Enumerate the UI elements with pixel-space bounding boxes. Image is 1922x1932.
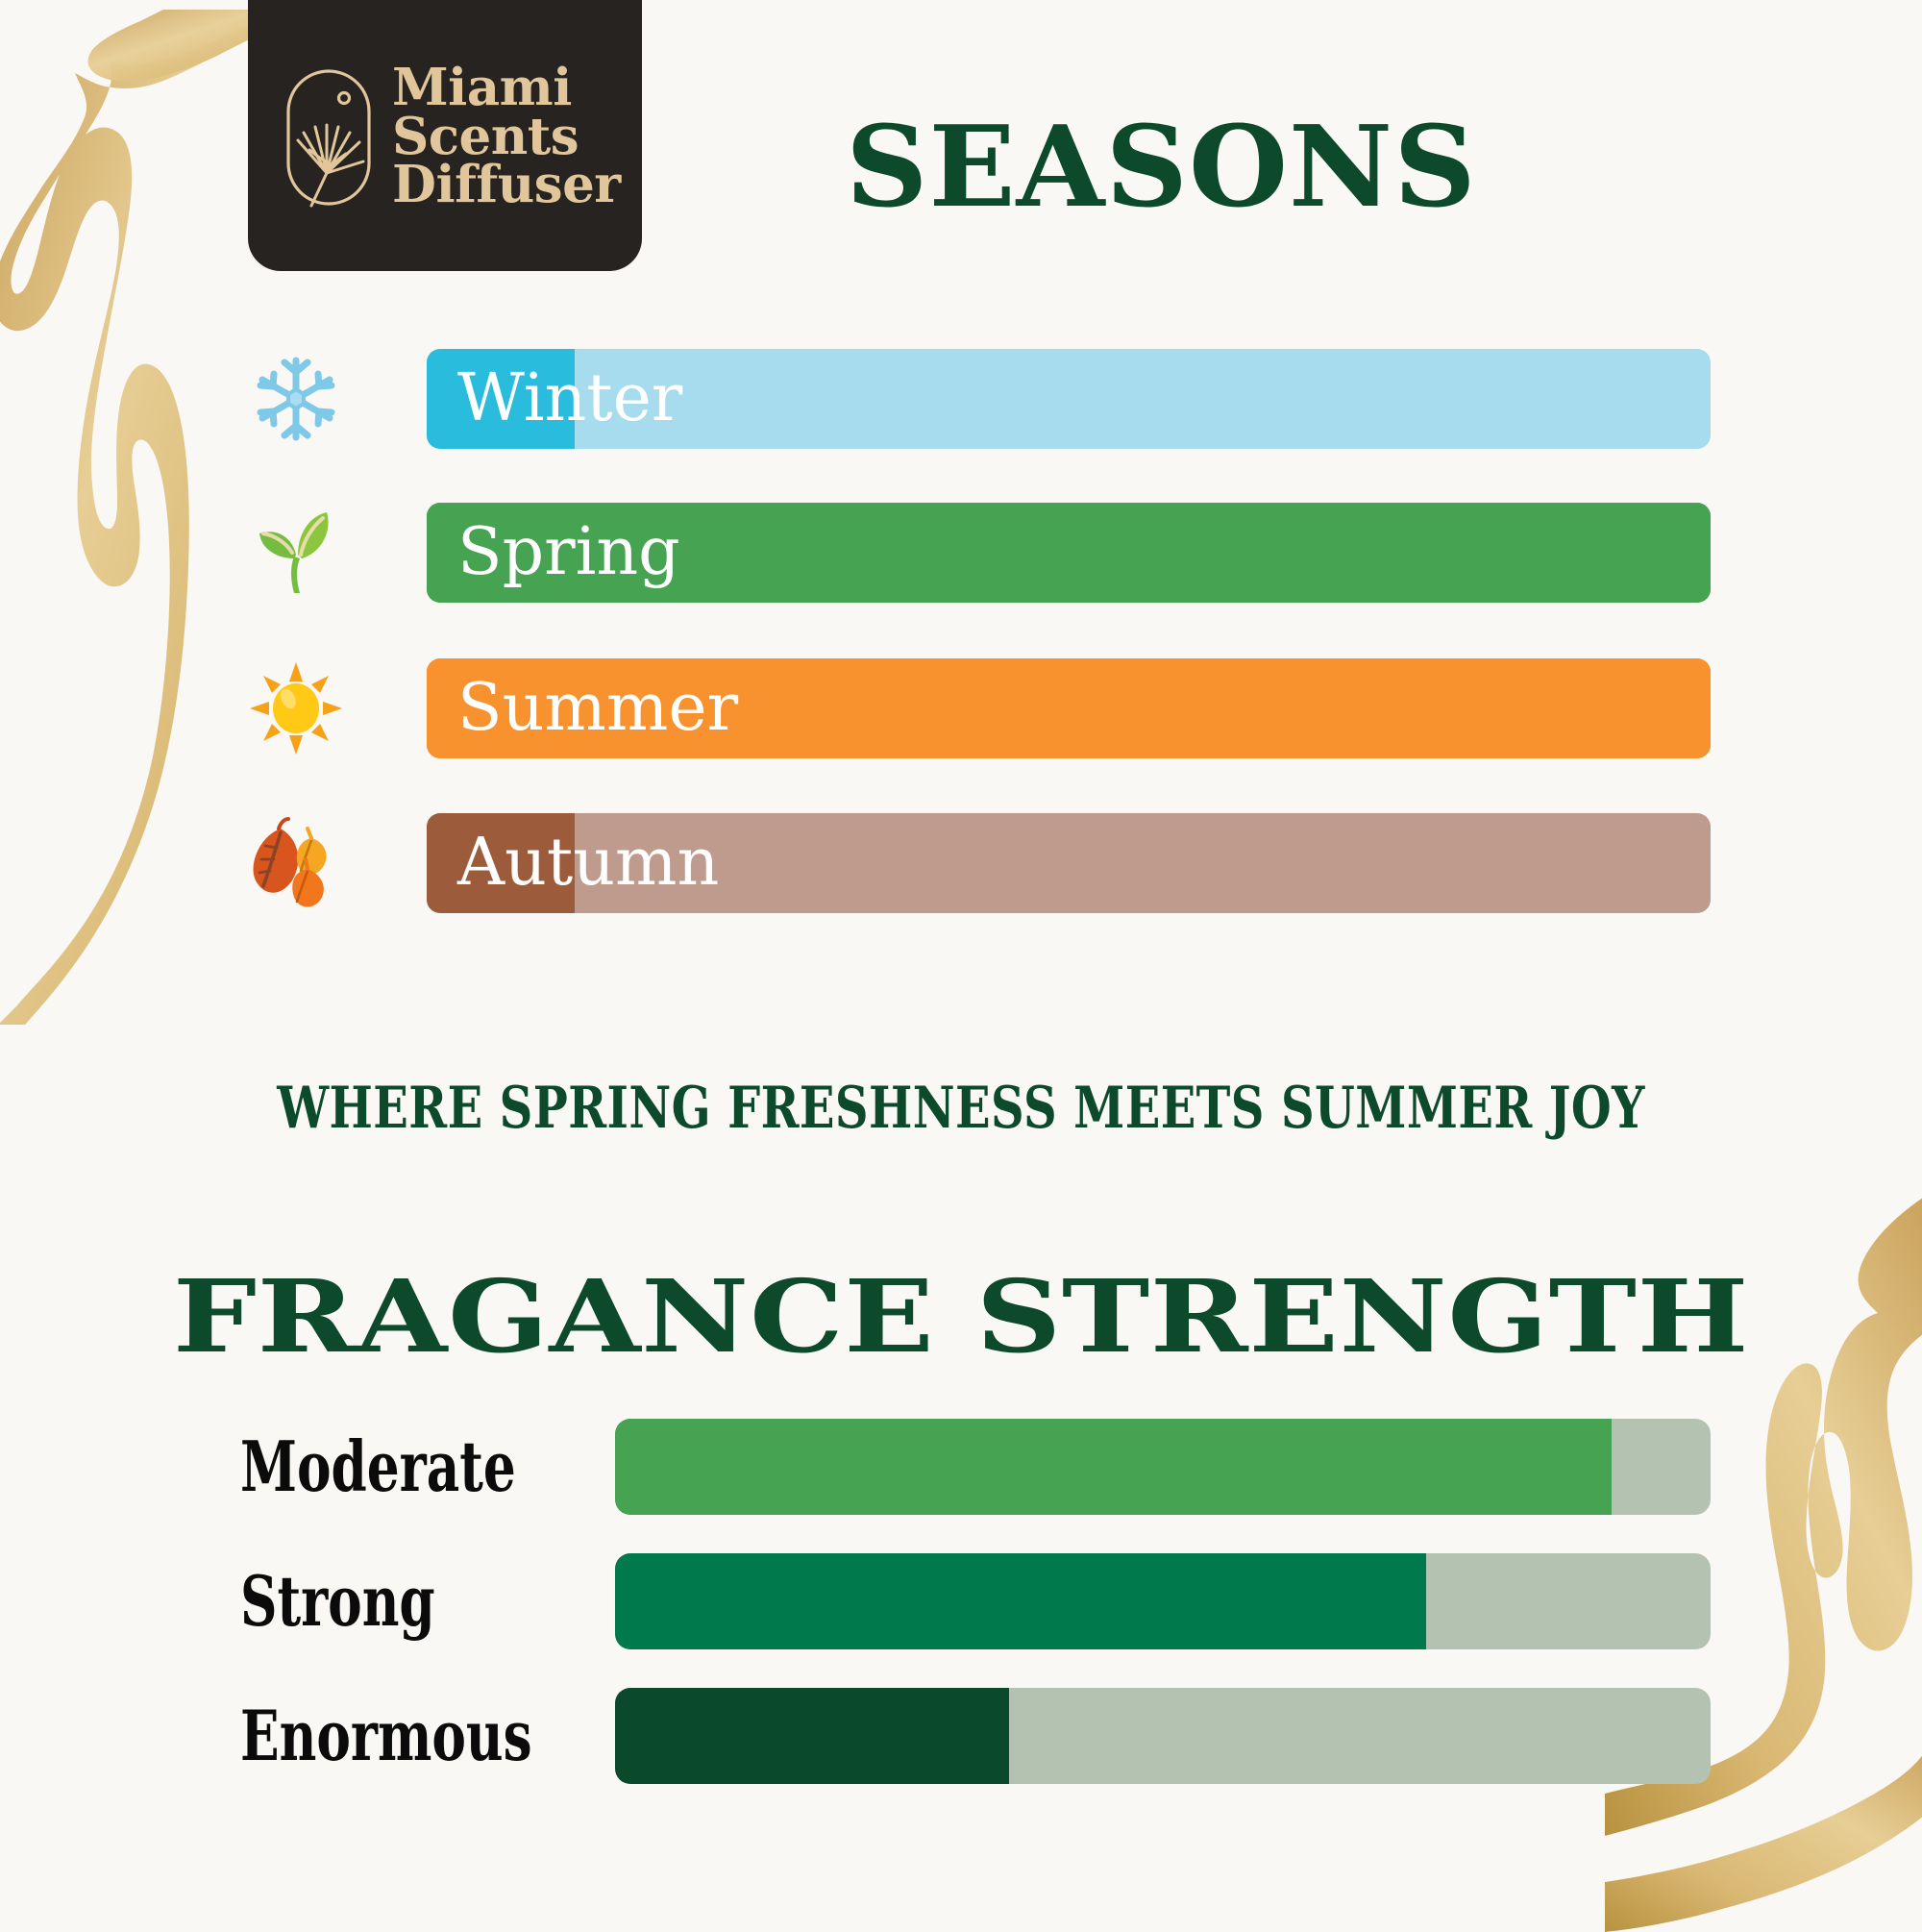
fallen-leaves-icon bbox=[240, 810, 352, 916]
seasons-section-title: SEASONS bbox=[846, 102, 1477, 233]
logo-line-3: Diffuser bbox=[392, 161, 621, 210]
season-label: Autumn bbox=[457, 830, 719, 896]
strength-row: Moderate bbox=[240, 1416, 1711, 1518]
strength-progress-fill bbox=[615, 1688, 1009, 1784]
strength-row: Strong bbox=[240, 1550, 1711, 1652]
season-progress-track: Summer bbox=[427, 658, 1711, 758]
season-row: Autumn bbox=[240, 810, 1711, 916]
season-row: Summer bbox=[240, 656, 1711, 761]
season-row: Spring bbox=[240, 500, 1711, 606]
strength-progress-fill bbox=[615, 1419, 1612, 1515]
strength-progress-track bbox=[615, 1553, 1711, 1649]
strength-progress-track bbox=[615, 1419, 1711, 1515]
strength-label: Strong bbox=[240, 1567, 518, 1636]
brand-logo-text: Miami Scents Diffuser bbox=[392, 63, 621, 211]
tagline-text: WHERE SPRING FRESHNESS MEETS SUMMER JOY bbox=[192, 1075, 1730, 1142]
season-label: Spring bbox=[457, 520, 680, 585]
strength-label: Enormous bbox=[240, 1701, 518, 1771]
strength-row: Enormous bbox=[240, 1685, 1711, 1787]
infographic-canvas: Miami Scents Diffuser SEASONS bbox=[0, 0, 1922, 1922]
logo-line-2: Scents bbox=[392, 112, 621, 161]
logo-line-1: Miami bbox=[392, 63, 621, 112]
season-row: Winter bbox=[240, 346, 1711, 452]
snowflake-icon bbox=[240, 346, 352, 452]
season-label: Summer bbox=[457, 676, 738, 741]
season-progress-track: Winter bbox=[427, 349, 1711, 449]
strength-progress-fill bbox=[615, 1553, 1426, 1649]
season-label: Winter bbox=[457, 366, 682, 432]
season-progress-track: Autumn bbox=[427, 813, 1711, 913]
sun-icon bbox=[240, 656, 352, 761]
dandelion-tag-icon bbox=[283, 65, 375, 210]
seedling-icon bbox=[240, 500, 352, 606]
strength-label: Moderate bbox=[240, 1432, 518, 1501]
fragrance-strength-section-title: FRAGANCE STRENGTH bbox=[0, 1257, 1922, 1375]
brand-logo-card: Miami Scents Diffuser bbox=[248, 0, 642, 271]
strength-progress-track bbox=[615, 1688, 1711, 1784]
season-progress-track: Spring bbox=[427, 503, 1711, 603]
